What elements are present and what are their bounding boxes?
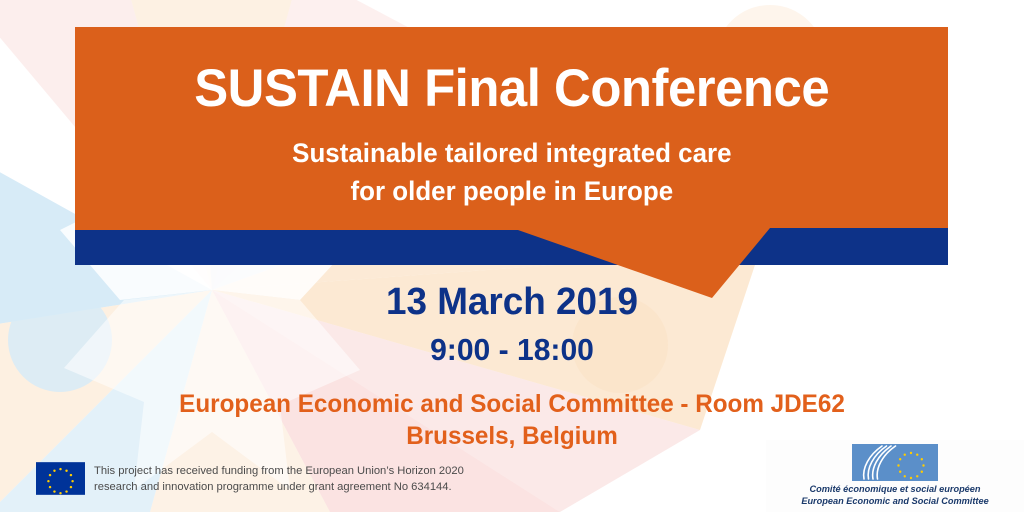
eesc-logo-block: Comité économique et social européen Eur… xyxy=(766,440,1024,512)
page-title: SUSTAIN Final Conference xyxy=(194,61,829,117)
venue-line-1: European Economic and Social Committee -… xyxy=(15,388,1008,420)
eesc-caption: Comité économique et social européen Eur… xyxy=(801,484,988,508)
page-subtitle: Sustainable tailored integrated care for… xyxy=(292,134,731,211)
event-time: 9:00 - 18:00 xyxy=(15,332,1008,368)
eesc-caption-fr: Comité économique et social européen xyxy=(801,484,988,496)
eesc-caption-en: European Economic and Social Committee xyxy=(801,496,988,508)
event-date: 13 March 2019 xyxy=(15,281,1008,324)
funding-text: This project has received funding from t… xyxy=(94,462,464,496)
funding-line-2: research and innovation programme under … xyxy=(94,480,464,496)
eu-flag-icon xyxy=(36,462,85,495)
eu-funding-block: This project has received funding from t… xyxy=(36,462,464,496)
funding-line-1: This project has received funding from t… xyxy=(94,464,464,480)
eesc-logo-icon xyxy=(852,444,938,481)
subtitle-line-1: Sustainable tailored integrated care xyxy=(292,134,731,172)
conference-poster: SUSTAIN Final Conference Sustainable tai… xyxy=(0,0,1024,512)
headline-block: SUSTAIN Final Conference Sustainable tai… xyxy=(75,27,948,230)
subtitle-line-2: for older people in Europe xyxy=(292,172,731,210)
event-date-block: 13 March 2019 9:00 - 18:00 xyxy=(0,281,1024,367)
